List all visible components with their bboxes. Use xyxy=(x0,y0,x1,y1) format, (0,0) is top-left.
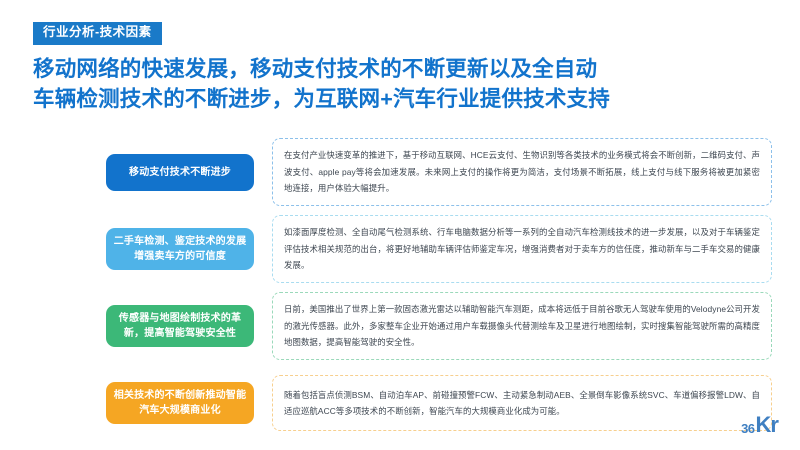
factor-label-pill[interactable]: 相关技术的不断创新推动智能汽车大规模商业化 xyxy=(106,382,254,424)
factor-row: 相关技术的不断创新推动智能汽车大规模商业化 随着包括盲点侦测BSM、自动泊车AP… xyxy=(0,367,800,439)
factor-description-box: 随着包括盲点侦测BSM、自动泊车AP、前碰撞预警FCW、主动紧急制动AEB、全景… xyxy=(272,375,772,431)
factor-description-box: 在支付产业快速变革的推进下，基于移动互联网、HCE云支付、生物识别等各类技术的业… xyxy=(272,138,772,205)
factor-description-text: 如漆面厚度检测、全自动尾气检测系统、行车电脑数据分析等一系列的全自动汽车检测线技… xyxy=(284,224,760,273)
factor-description-box: 如漆面厚度检测、全自动尾气检测系统、行车电脑数据分析等一系列的全自动汽车检测线技… xyxy=(272,215,772,282)
factor-row: 移动支付技术不断进步 在支付产业快速变革的推进下，基于移动互联网、HCE云支付、… xyxy=(0,136,800,208)
page-title-line-1: 移动网络的快速发展，移动支付技术的不断更新以及全自动 xyxy=(33,54,773,85)
section-badge: 行业分析-技术因素 xyxy=(33,22,162,45)
brand-logo-number: 36 xyxy=(741,422,754,435)
factor-label-pill[interactable]: 二手车检测、鉴定技术的发展增强卖车方的可信度 xyxy=(106,228,254,270)
factor-label-pill[interactable]: 移动支付技术不断进步 xyxy=(106,154,254,191)
page-header: 行业分析-技术因素 移动网络的快速发展，移动支付技术的不断更新以及全自动 车辆检… xyxy=(0,0,800,115)
factor-description-text: 随着包括盲点侦测BSM、自动泊车AP、前碰撞预警FCW、主动紧急制动AEB、全景… xyxy=(284,387,760,420)
factor-list: 移动支付技术不断进步 在支付产业快速变革的推进下，基于移动互联网、HCE云支付、… xyxy=(0,136,800,444)
page-title: 移动网络的快速发展，移动支付技术的不断更新以及全自动 车辆检测技术的不断进步，为… xyxy=(33,54,773,115)
factor-label-pill[interactable]: 传感器与地图绘制技术的革新，提高智能驾驶安全性 xyxy=(106,305,254,347)
brand-logo-word: Kr xyxy=(756,414,778,436)
factor-description-box: 日前，美国推出了世界上第一款固态激光雷达以辅助智能汽车测距，成本将远低于目前谷歌… xyxy=(272,292,772,359)
factor-description-text: 在支付产业快速变革的推进下，基于移动互联网、HCE云支付、生物识别等各类技术的业… xyxy=(284,147,760,196)
brand-logo: 36 Kr xyxy=(741,414,778,436)
factor-row: 传感器与地图绘制技术的革新，提高智能驾驶安全性 日前，美国推出了世界上第一款固态… xyxy=(0,290,800,362)
page-title-line-2: 车辆检测技术的不断进步，为互联网+汽车行业提供技术支持 xyxy=(33,84,773,115)
factor-description-text: 日前，美国推出了世界上第一款固态激光雷达以辅助智能汽车测距，成本将远低于目前谷歌… xyxy=(284,301,760,350)
factor-row: 二手车检测、鉴定技术的发展增强卖车方的可信度 如漆面厚度检测、全自动尾气检测系统… xyxy=(0,213,800,285)
